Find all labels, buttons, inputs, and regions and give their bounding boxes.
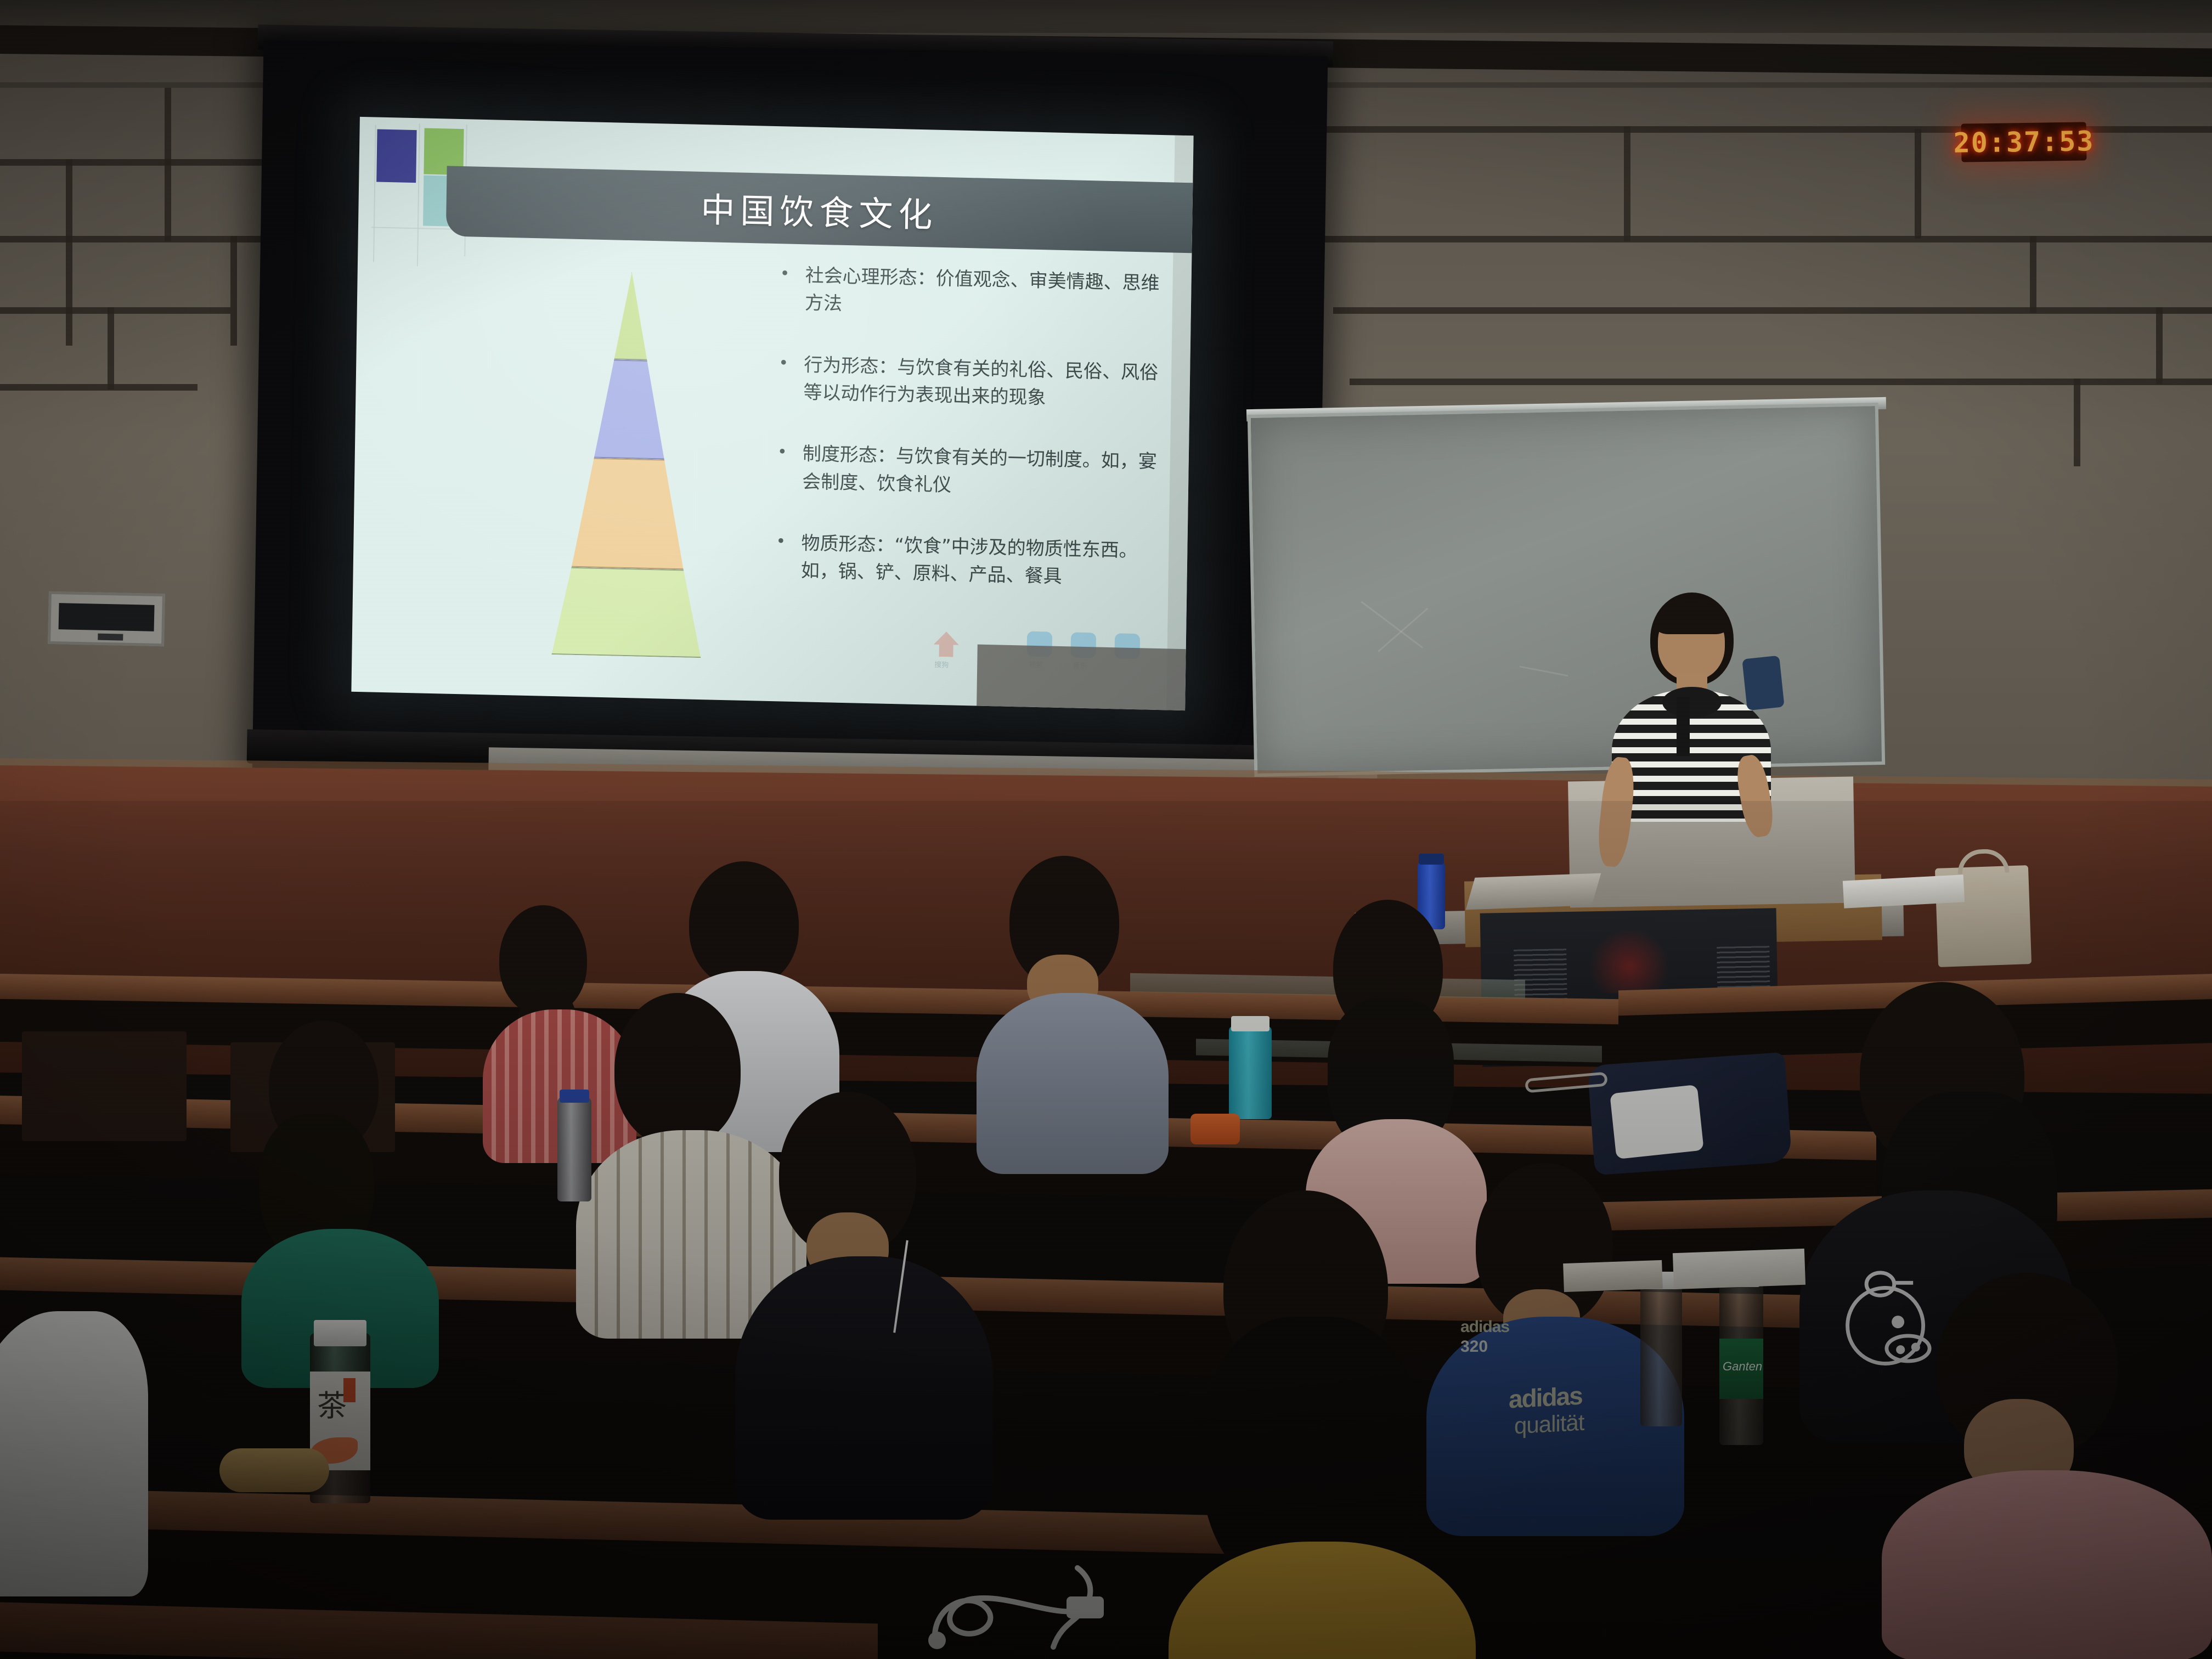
bullet-text: 物质形态：“饮食”中涉及的物质性东西。如，锅、铲、原料、产品、餐具 [800,529,1160,592]
open-notebook[interactable] [1673,1249,1805,1289]
av-cabinet-logo [1588,927,1671,994]
pyramid-tier-3 [518,456,739,571]
tea-bottle-cap [314,1320,366,1346]
slide-bullet-list: • 社会心理形态：价值观念、审美情趣、思维方法 • 行为形态：与饮食有关的礼俗、… [775,261,1164,627]
student-head [689,861,799,988]
projected-slide: 中国饮食文化 • 社会心理形态：价值观念、审美情趣、思维方法 • 行为形态：与饮… [351,117,1193,710]
bullet-text: 制度形态：与饮食有关的一切制度。如，宴会制度、饮食礼仪 [802,441,1161,504]
tea-bottle-accent [343,1378,356,1402]
lecturer [1569,592,1799,900]
silver-thermos[interactable] [557,1097,591,1201]
seat-back [22,1031,187,1141]
notebook-stack[interactable] [1563,1260,1663,1292]
pyramid-tier-4 [516,566,737,659]
jacket-white-panel [1610,1085,1704,1159]
blue-object-on-whiteboard[interactable] [1742,656,1784,711]
tea-bottle-label-text: 茶 [317,1381,347,1425]
list-item: • 物质形态：“饮食”中涉及的物质性东西。如，锅、铲、原料、产品、餐具 [775,529,1160,592]
student-shirt [1882,1470,2212,1659]
slide-decor-square-navy [376,129,416,183]
list-item: • 制度形态：与饮食有关的一切制度。如，宴会制度、饮食礼仪 [777,439,1161,503]
student-shirt [977,993,1169,1174]
shirt-number: 320 [1460,1338,1488,1356]
earphones-icon[interactable] [922,1553,1152,1651]
slide-projection-shadow [977,645,1186,711]
sogou-pinyin-icon[interactable] [933,631,959,657]
lecturer-left-arm [1595,756,1638,868]
bullet-text: 行为形态：与饮食有关的礼俗、民俗、风俗等以动作行为表现出来的现象 [803,351,1163,414]
silver-thermos-lid [560,1090,589,1103]
clear-water-bottle[interactable] [1640,1284,1682,1426]
pyramid-tier-2 [520,358,741,461]
teal-tumbler[interactable] [1229,1026,1272,1119]
list-item: • 行为形态：与饮食有关的礼俗、民俗、风俗等以动作行为表现出来的现象 [778,351,1163,414]
adidas-logo-text: adidas [1509,1380,1582,1414]
student-head [614,993,741,1147]
student-shirt [0,1311,148,1596]
clock-time-text: 20:37:53 [1953,125,2095,159]
bullet-marker-icon: • [780,261,805,317]
lecture-hall-photo: 20:37:53 中国饮食文化 [0,0,2212,1659]
orange-pouch[interactable] [1190,1114,1240,1144]
adidas-subtext: qualität [1514,1409,1584,1440]
lecturer-collar [1662,687,1722,718]
bullet-text: 社会心理形态：价值观念、审美情趣、思维方法 [805,262,1164,325]
list-item: • 社会心理形态：价值观念、审美情趣、思维方法 [780,261,1164,325]
led-wall-clock: 20:37:53 [1961,122,2087,162]
slide-title: 中国饮食文化 [701,182,938,237]
pyramid-tier-1 [521,270,741,363]
green-water-bottle-brand: Ganten [1723,1359,1762,1374]
adidas-logo-top: adidas [1460,1318,1509,1336]
wall-control-panel[interactable] [48,591,165,646]
control-panel-knob[interactable] [98,634,123,641]
snack-item[interactable] [219,1448,329,1492]
student-shirt [735,1256,993,1520]
blue-flask-cap [1419,854,1444,865]
teal-tumbler-lid [1231,1016,1269,1031]
control-panel-screen [59,603,155,631]
lecturer-placket [1677,697,1690,756]
desktop-icon-label: 搜狗 [934,659,949,670]
bullet-marker-icon: • [777,439,803,495]
bullet-marker-icon: • [778,351,804,407]
bullet-marker-icon: • [775,529,801,585]
lecturer-hair [1657,602,1727,634]
pyramid-diagram [516,270,741,659]
